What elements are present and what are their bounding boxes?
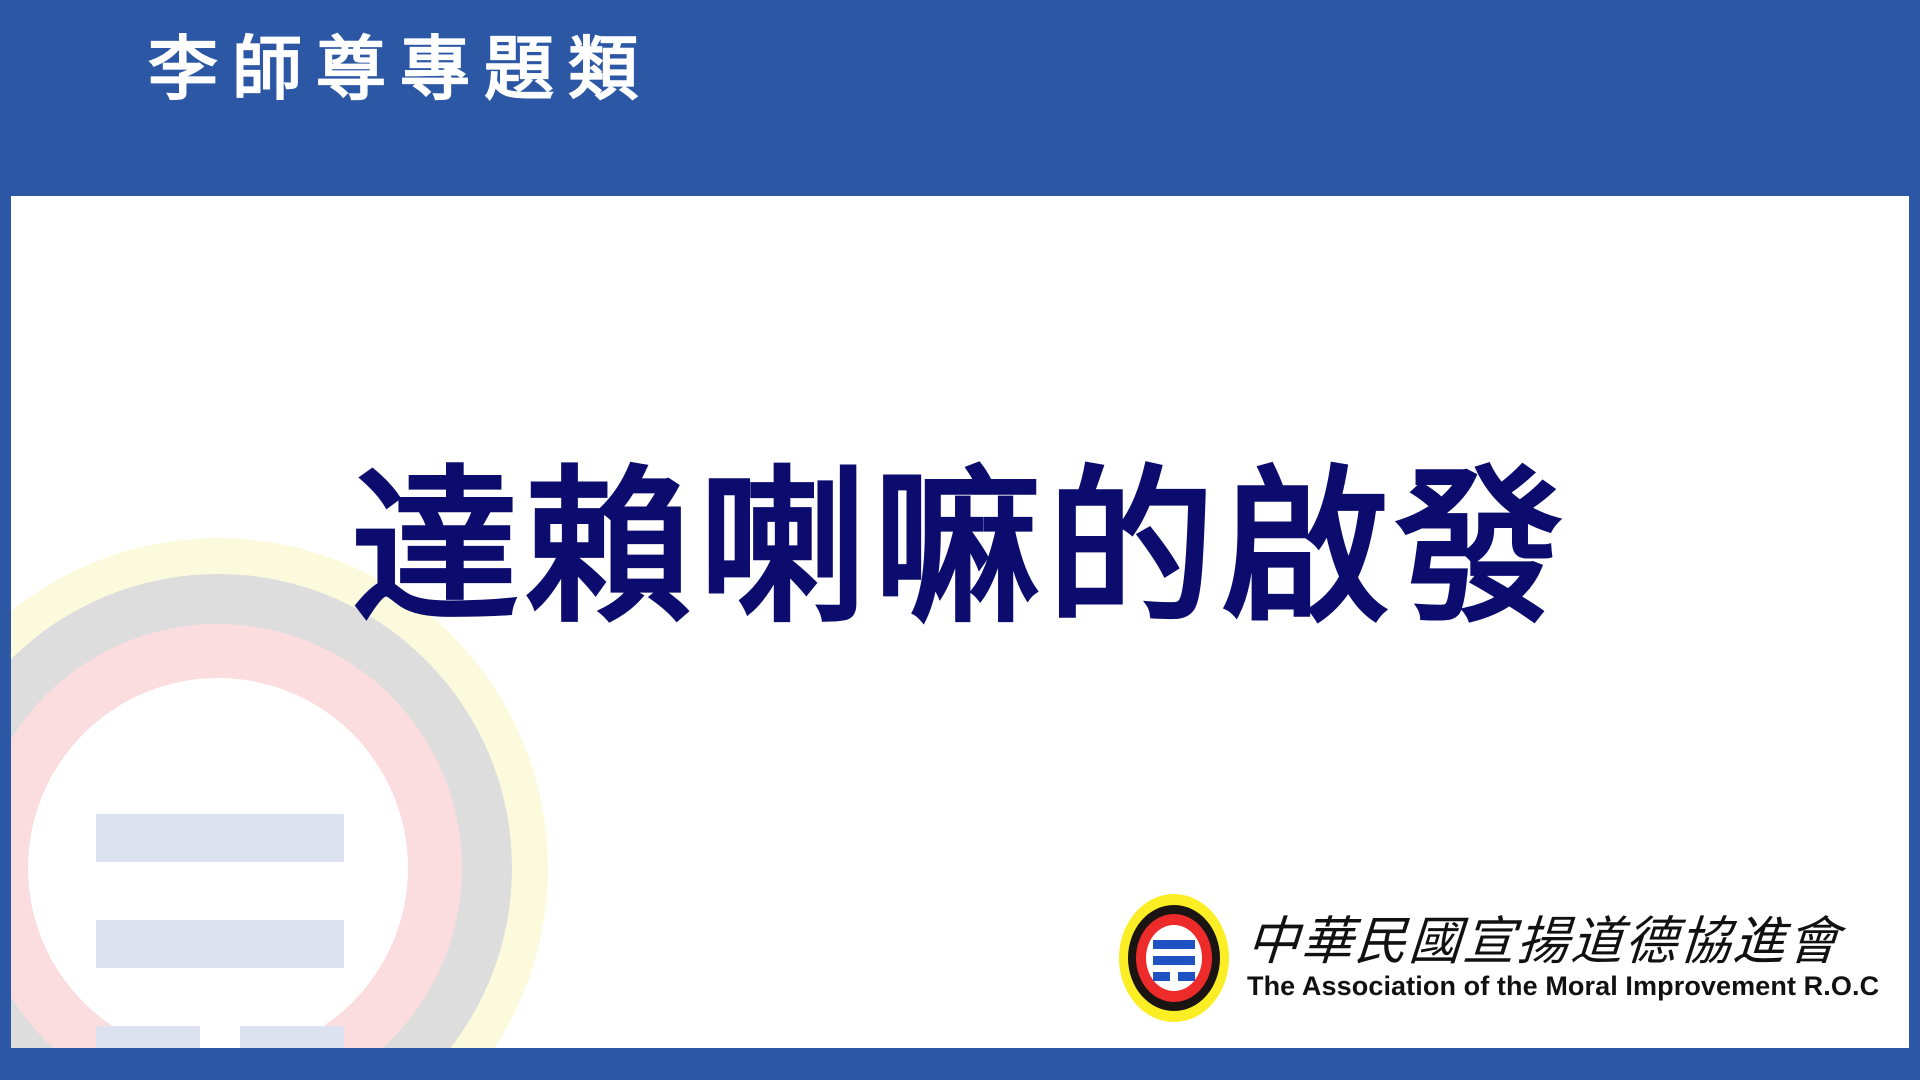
watermark-trigram-bar-middle [96, 920, 344, 968]
emblem-trigram-bar-bottom-right [1178, 972, 1195, 981]
presentation-slide: 達賴喇嘛的啟發 中華民國宣揚道德協進會 The Association of t… [0, 0, 1920, 1080]
slide-category-label: 李師尊專題類 [148, 34, 652, 104]
watermark-trigram-bar-bottom-left [96, 1026, 200, 1048]
li-trigram-emblem-icon [1119, 894, 1229, 1022]
watermark-ring-white [28, 678, 408, 1048]
emblem-trigram-bar-top [1153, 940, 1195, 949]
watermark-trigram-bar-top [96, 814, 344, 862]
slide-header-band: 李師尊專題類 [0, 0, 1920, 196]
organization-logo-text: 中華民國宣揚道德協進會 The Association of the Moral… [1247, 914, 1879, 1002]
watermark-trigram-bar-bottom-right [240, 1026, 344, 1048]
watermark-ring-pink [11, 624, 462, 1048]
organization-name-english: The Association of the Moral Improvement… [1247, 972, 1879, 1002]
slide-content-panel: 達賴喇嘛的啟發 中華民國宣揚道德協進會 The Association of t… [11, 196, 1909, 1048]
emblem-trigram-bar-bottom-left [1153, 972, 1170, 981]
slide-title: 達賴喇嘛的啟發 [11, 464, 1909, 632]
emblem-trigram-bar-middle [1153, 956, 1195, 965]
organization-logo: 中華民國宣揚道德協進會 The Association of the Moral… [1119, 884, 1899, 1032]
organization-name-chinese: 中華民國宣揚道德協進會 [1245, 914, 1881, 970]
